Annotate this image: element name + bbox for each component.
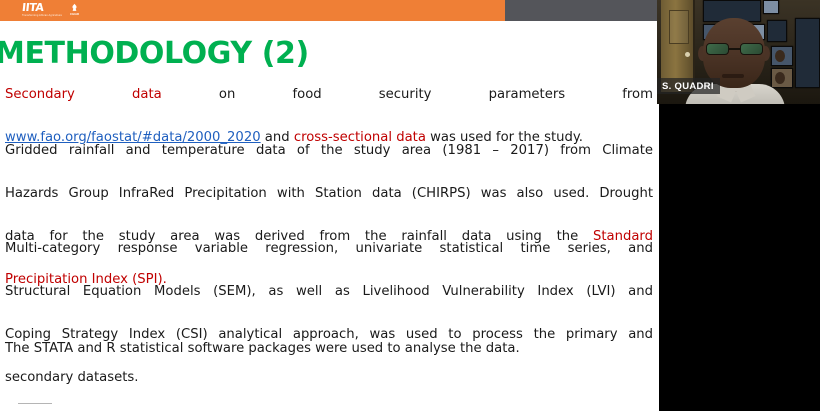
paragraph-line: Hazards Group InfraRed Precipitation wit…	[5, 183, 653, 226]
glasses-lens-left	[706, 43, 729, 55]
cgiar-wordmark: CGIAR	[70, 13, 79, 16]
paragraph-line: Multi-category response variable regress…	[5, 238, 653, 281]
paragraph-1: Secondary data on food security paramete…	[5, 84, 653, 149]
leaf-icon	[70, 3, 79, 12]
paragraph-line: Structural Equation Models (SEM), as wel…	[5, 281, 653, 324]
speaker-video-tile[interactable]: S. QUADRI	[657, 0, 820, 411]
shared-slide: IITA Transforming African Agriculture CG…	[0, 0, 657, 411]
meeting-screen: IITA Transforming African Agriculture CG…	[0, 0, 820, 411]
glasses-icon	[706, 43, 763, 55]
portrait-head	[775, 50, 785, 62]
glasses-bridge	[729, 48, 740, 50]
video-timestamp	[693, 404, 820, 411]
text-run: Multi-category response variable regress…	[5, 241, 653, 256]
text-run: Structural Equation Models (SEM), as wel…	[5, 284, 653, 299]
video-frame: S. QUADRI	[657, 0, 820, 104]
slide-top-bar	[0, 0, 657, 21]
paragraph-3: Multi-category response variable regress…	[5, 238, 653, 389]
paragraph-line: The STATA and R statistical software pac…	[5, 338, 653, 360]
participant-name-badge: S. QUADRI	[657, 78, 720, 94]
slide-footer-rule	[18, 403, 52, 404]
door-knob	[685, 52, 690, 57]
wall-frame	[795, 18, 820, 88]
speaker-mouth	[722, 74, 744, 78]
page-title: METHODOLOGY (2)	[0, 36, 309, 71]
iita-logo: IITA Transforming African Agriculture CG…	[22, 2, 79, 19]
portrait-head	[775, 72, 785, 84]
wall-frame	[763, 0, 779, 14]
iita-tagline: Transforming African Agriculture	[22, 15, 62, 18]
iita-wordmark: IITA	[21, 2, 62, 13]
glasses-lens-right	[740, 43, 763, 55]
text-run: Secondary	[5, 87, 132, 102]
text-run: secondary datasets.	[5, 370, 138, 385]
text-run: on food security parameters from	[219, 87, 653, 102]
wall-frame	[767, 20, 787, 42]
door-panel	[669, 10, 689, 44]
paragraph-line: secondary datasets.	[5, 367, 653, 389]
paragraph-4: The STATA and R statistical software pac…	[5, 338, 653, 360]
paragraph-line: Secondary data on food security paramete…	[5, 84, 653, 127]
text-run: data	[132, 87, 219, 102]
paragraph-line: Gridded rainfall and temperature data of…	[5, 140, 653, 183]
text-run: The STATA and R statistical software pac…	[5, 341, 520, 356]
text-run: Gridded rainfall and temperature data of…	[5, 143, 653, 158]
text-run: Hazards Group InfraRed Precipitation wit…	[5, 186, 653, 201]
